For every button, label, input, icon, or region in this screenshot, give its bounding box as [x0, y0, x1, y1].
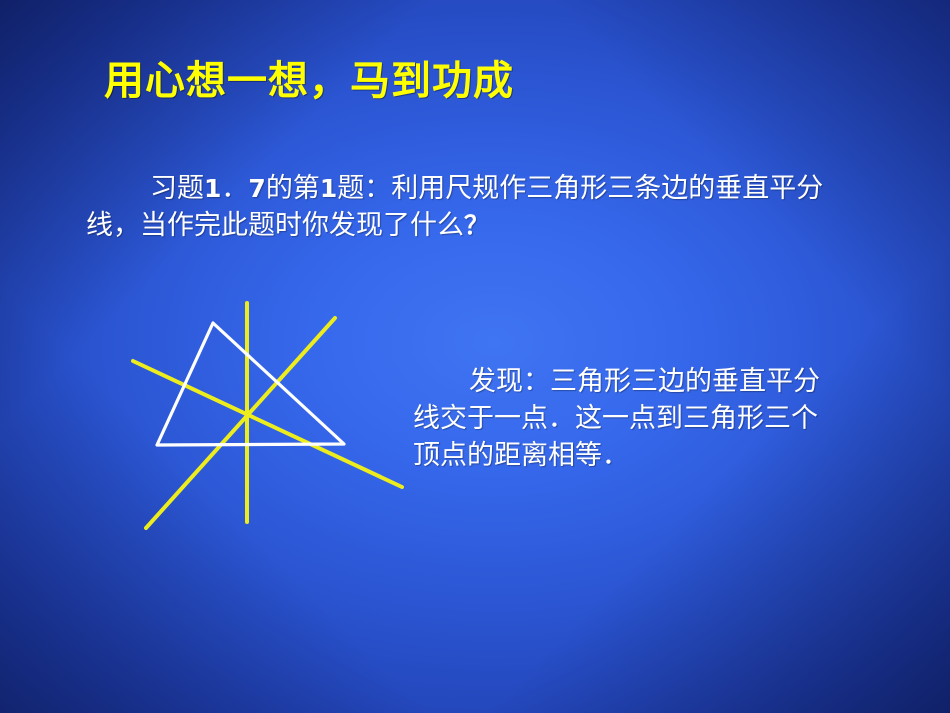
- problem-statement: 习题1．7的第1题：利用尺规作三角形三条边的垂直平分线，当作完此题时你发现了什么…: [86, 170, 876, 244]
- geometry-figure: [110, 290, 430, 550]
- problem-item-number: 1: [320, 174, 337, 203]
- problem-prefix: 习题: [150, 173, 204, 203]
- descending-bisector-line: [133, 361, 402, 487]
- problem-number-7: 7: [248, 174, 265, 203]
- problem-middle: 的第: [266, 173, 320, 203]
- page-title: 用心想一想，马到功成: [104, 56, 514, 106]
- problem-separator: ．: [221, 173, 248, 203]
- conclusion-statement: 发现：三角形三边的垂直平分线交于一点．这一点到三角形三个顶点的距离相等．: [413, 363, 825, 474]
- triangle-bisectors-svg: [110, 290, 430, 550]
- problem-question-mark: ？: [464, 211, 489, 240]
- problem-number-1: 1: [204, 174, 221, 203]
- slide-canvas: 用心想一想，马到功成 习题1．7的第1题：利用尺规作三角形三条边的垂直平分线，当…: [0, 0, 950, 713]
